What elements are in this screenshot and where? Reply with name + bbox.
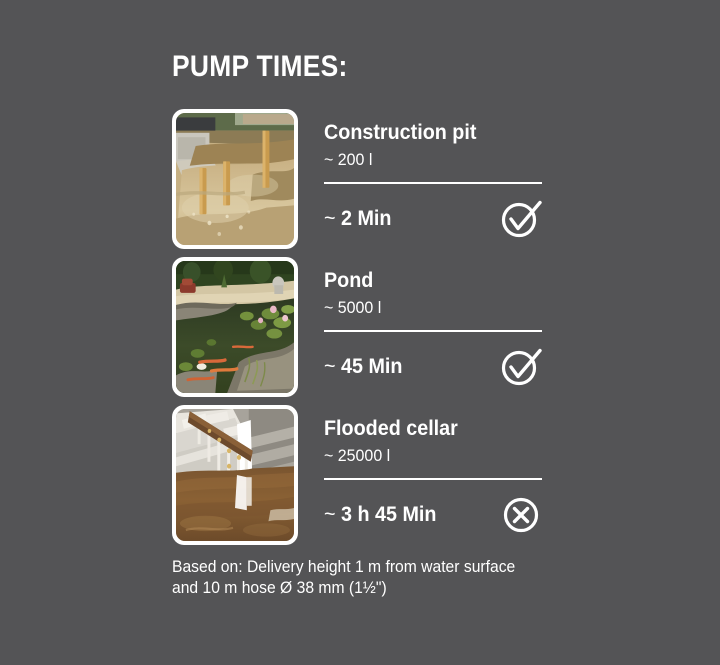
list-item: Construction pit ~ 200 l ~ 2 Min [172, 109, 550, 249]
list-item-bottom-row: ~ 2 Min [324, 198, 542, 240]
divider [324, 182, 542, 184]
list-item-volume: ~ 5000 l [324, 298, 536, 318]
check-circle-icon [500, 198, 542, 240]
tilde: ~ [324, 207, 336, 230]
list-item-time: ~ 3 h 45 Min [324, 503, 436, 527]
thumbnail-frame [172, 109, 298, 249]
list-item: Pond ~ 5000 l ~ 45 Min [172, 257, 550, 397]
time-value: 45 Min [341, 355, 402, 378]
garden-pond-photo [176, 261, 294, 393]
list-item-time: ~ 2 Min [324, 207, 391, 231]
thumbnail-frame [172, 257, 298, 397]
list-item-time: ~ 45 Min [324, 355, 402, 379]
list-item-bottom-row: ~ 45 Min [324, 346, 542, 388]
footnote-line-1: Based on: Delivery height 1 m from water… [172, 557, 531, 578]
list-item-volume: ~ 200 l [324, 150, 536, 170]
divider [324, 330, 542, 332]
list-item: Flooded cellar ~ 25000 l ~ 3 h 45 Min [172, 405, 550, 545]
list-item-title: Pond [324, 270, 536, 292]
list-item-info: Flooded cellar ~ 25000 l ~ 3 h 45 Min [324, 405, 550, 532]
list-item-info: Construction pit ~ 200 l ~ 2 Min [324, 109, 550, 236]
pump-times-list: Construction pit ~ 200 l ~ 2 Min [172, 109, 550, 545]
tilde: ~ [324, 503, 336, 526]
list-item-volume: ~ 25000 l [324, 446, 536, 466]
time-value: 2 Min [341, 207, 391, 230]
footnote-line-2: and 10 m hose Ø 38 mm (1½") [172, 578, 531, 599]
list-item-info: Pond ~ 5000 l ~ 45 Min [324, 257, 550, 384]
list-item-title: Construction pit [324, 122, 536, 144]
footnote: Based on: Delivery height 1 m from water… [172, 557, 531, 598]
list-item-title: Flooded cellar [324, 418, 536, 440]
flooded-cellar-photo [176, 409, 294, 541]
cross-circle-icon [500, 494, 542, 536]
time-value: 3 h 45 Min [341, 503, 436, 526]
content-column: PUMP TIMES: [172, 0, 550, 598]
divider [324, 478, 542, 480]
pump-times-infographic: PUMP TIMES: [0, 0, 720, 665]
list-item-bottom-row: ~ 3 h 45 Min [324, 494, 542, 536]
construction-pit-photo [176, 113, 294, 245]
tilde: ~ [324, 355, 336, 378]
page-title: PUMP TIMES: [172, 0, 505, 82]
check-circle-icon [500, 346, 542, 388]
thumbnail-frame [172, 405, 298, 545]
